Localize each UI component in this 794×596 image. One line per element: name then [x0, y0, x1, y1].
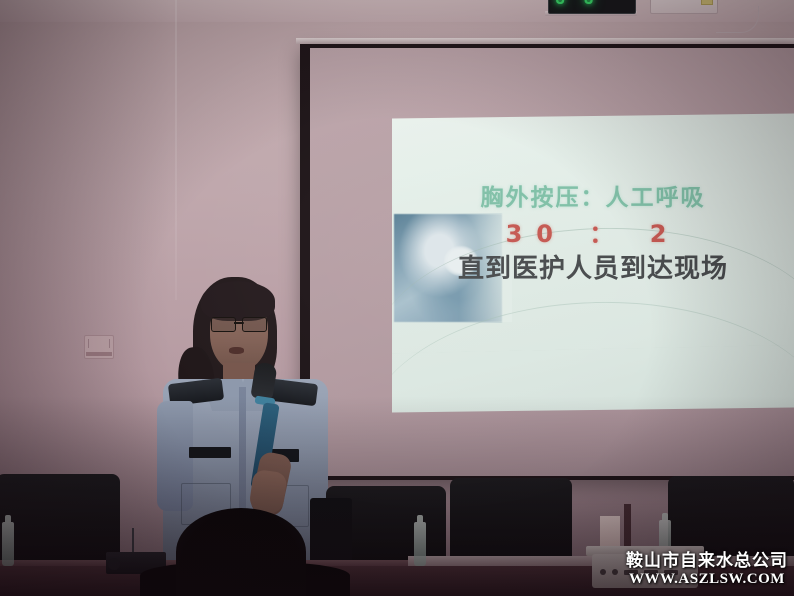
projected-slide: 胸外按压：人工呼吸 30 ： 2 直到医护人员到达现场 — [392, 114, 794, 413]
slide-heading: 胸外按压：人工呼吸 — [392, 178, 794, 212]
watermark: 鞍山市自来水总公司 WWW.ASZLSW.COM — [626, 552, 788, 588]
led-clock-display: 8 8 — [548, 0, 636, 14]
slide-ratio: 30 ： 2 — [392, 214, 794, 249]
wall-outlet-icon — [84, 335, 114, 359]
panel-tag-icon — [701, 0, 713, 5]
presenter-glasses-icon — [211, 317, 267, 330]
presenter-mouth — [229, 347, 244, 354]
photo-scene: 8 8 CONTROL PANEL 胸外按压：人工呼吸 30 ： 2 直到医护人… — [0, 0, 794, 596]
wall-seam — [175, 0, 177, 300]
presenter-hair-front — [201, 281, 275, 321]
glasses-lens-right — [242, 317, 267, 332]
watermark-url: WWW.ASZLSW.COM — [626, 571, 788, 588]
wall-control-panel[interactable]: CONTROL PANEL — [650, 0, 718, 14]
watermark-company: 鞍山市自来水总公司 — [626, 552, 788, 571]
glasses-lens-left — [211, 317, 236, 332]
led-digits: 8 8 — [555, 0, 598, 9]
slide-subtext: 直到医护人员到达现场 — [392, 248, 794, 285]
